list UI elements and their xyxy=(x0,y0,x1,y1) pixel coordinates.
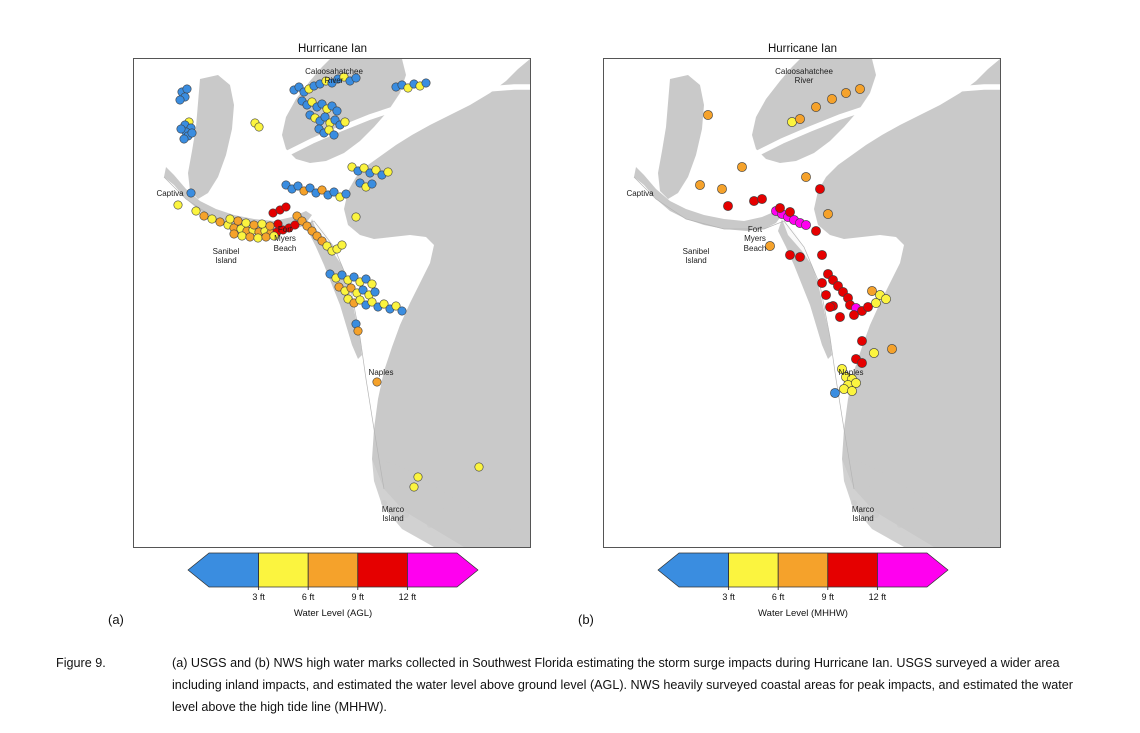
high-water-mark-point[interactable] xyxy=(801,172,810,181)
high-water-mark-point[interactable] xyxy=(757,194,766,203)
high-water-mark-point[interactable] xyxy=(841,88,850,97)
high-water-mark-point[interactable] xyxy=(869,348,878,357)
high-water-mark-point[interactable] xyxy=(183,85,191,93)
colorbar-segment xyxy=(308,553,358,587)
colorbar-segments xyxy=(658,553,948,590)
high-water-mark-point[interactable] xyxy=(352,74,360,82)
high-water-mark-point[interactable] xyxy=(801,220,810,229)
high-water-mark-point[interactable] xyxy=(238,232,246,240)
high-water-mark-point[interactable] xyxy=(177,125,185,133)
panel-b-colorbar: 3 ft6 ft9 ft12 ft Water Level (MHHW) xyxy=(657,550,949,622)
high-water-mark-point[interactable] xyxy=(384,168,392,176)
high-water-mark-point[interactable] xyxy=(830,388,839,397)
high-water-mark-point[interactable] xyxy=(775,203,784,212)
high-water-mark-point[interactable] xyxy=(815,184,824,193)
high-water-mark-point[interactable] xyxy=(857,358,866,367)
high-water-mark-point[interactable] xyxy=(795,252,804,261)
high-water-mark-point[interactable] xyxy=(266,222,274,230)
high-water-mark-point[interactable] xyxy=(192,207,200,215)
colorbar-tick-label: 6 ft xyxy=(772,592,785,602)
high-water-mark-point[interactable] xyxy=(823,209,832,218)
colorbar-segments xyxy=(188,553,478,590)
colorbar-tick-label: 3 ft xyxy=(722,592,735,602)
high-water-mark-point[interactable] xyxy=(354,327,362,335)
high-water-mark-point[interactable] xyxy=(827,94,836,103)
high-water-mark-point[interactable] xyxy=(262,233,270,241)
high-water-mark-point[interactable] xyxy=(338,241,346,249)
figure-caption: Figure 9. (a) USGS and (b) NWS high wate… xyxy=(56,652,1090,718)
panel-b-nws: Hurricane Ian NWS High Water Marks xyxy=(603,28,1002,628)
panel-a-title-line1: Hurricane Ian xyxy=(133,42,532,56)
high-water-mark-point[interactable] xyxy=(368,180,376,188)
high-water-mark-point[interactable] xyxy=(373,378,381,386)
high-water-mark-point[interactable] xyxy=(871,298,880,307)
colorbar-segment xyxy=(188,553,259,587)
panel-b-map[interactable]: Caloosahatchee River Captiva Sanibel Isl… xyxy=(603,58,1001,548)
panel-a-map[interactable]: Caloosahatchee River Captiva Sanibel Isl… xyxy=(133,58,531,548)
colorbar-tick-label: 9 ft xyxy=(822,592,835,602)
colorbar-segment xyxy=(407,553,478,587)
high-water-mark-point[interactable] xyxy=(817,250,826,259)
high-water-mark-point[interactable] xyxy=(749,196,758,205)
high-water-mark-point[interactable] xyxy=(180,135,188,143)
high-water-mark-point[interactable] xyxy=(849,310,858,319)
high-water-mark-point[interactable] xyxy=(342,190,350,198)
high-water-mark-point[interactable] xyxy=(811,226,820,235)
high-water-mark-point[interactable] xyxy=(230,230,238,238)
high-water-mark-point[interactable] xyxy=(475,463,483,471)
colorbar-tick-label: 3 ft xyxy=(252,592,265,602)
high-water-mark-point[interactable] xyxy=(226,215,234,223)
high-water-mark-point[interactable] xyxy=(398,307,406,315)
colorbar-segment xyxy=(358,553,408,587)
high-water-mark-point[interactable] xyxy=(410,483,418,491)
colorbar-segment xyxy=(778,553,828,587)
colorbar-segment xyxy=(658,553,729,587)
high-water-mark-point[interactable] xyxy=(847,386,856,395)
subfigure-label-a: (a) xyxy=(108,612,124,627)
high-water-mark-point[interactable] xyxy=(200,212,208,220)
high-water-mark-point[interactable] xyxy=(250,221,258,229)
panel-a-usgs: Hurricane Ian USGS High Water Marks xyxy=(133,28,532,628)
high-water-mark-point[interactable] xyxy=(825,302,834,311)
high-water-mark-point[interactable] xyxy=(188,129,196,137)
high-water-mark-point[interactable] xyxy=(887,344,896,353)
high-water-mark-point[interactable] xyxy=(216,218,224,226)
high-water-mark-point[interactable] xyxy=(254,234,262,242)
colorbar-agl-swatches xyxy=(187,550,479,590)
high-water-mark-point[interactable] xyxy=(857,336,866,345)
high-water-mark-point[interactable] xyxy=(839,384,848,393)
colorbar-tick-label: 6 ft xyxy=(302,592,315,602)
high-water-mark-point[interactable] xyxy=(817,278,826,287)
panel-b-map-canvas xyxy=(604,59,1000,547)
high-water-mark-point[interactable] xyxy=(737,162,746,171)
high-water-mark-point[interactable] xyxy=(341,118,349,126)
colorbar-tick-label: 12 ft xyxy=(869,592,887,602)
panel-a-map-canvas xyxy=(134,59,530,547)
high-water-mark-point[interactable] xyxy=(422,79,430,87)
high-water-mark-point[interactable] xyxy=(282,203,290,211)
high-water-mark-point[interactable] xyxy=(208,215,216,223)
high-water-mark-point[interactable] xyxy=(270,232,278,240)
high-water-mark-point[interactable] xyxy=(785,250,794,259)
high-water-mark-point[interactable] xyxy=(234,217,242,225)
high-water-mark-point[interactable] xyxy=(246,233,254,241)
high-water-mark-point[interactable] xyxy=(821,290,830,299)
figure-caption-body: (a) USGS and (b) NWS high water marks co… xyxy=(172,652,1090,718)
high-water-mark-point[interactable] xyxy=(352,213,360,221)
colorbar-tick-label: 9 ft xyxy=(352,592,365,602)
colorbar-agl-axis-label: Water Level (AGL) xyxy=(187,608,479,619)
high-water-mark-point[interactable] xyxy=(785,207,794,216)
colorbar-segment xyxy=(259,553,309,587)
high-water-mark-point[interactable] xyxy=(703,110,712,119)
high-water-mark-point[interactable] xyxy=(368,280,376,288)
high-water-mark-point[interactable] xyxy=(274,220,282,228)
high-water-mark-point[interactable] xyxy=(855,84,864,93)
colorbar-mhhw-axis-label: Water Level (MHHW) xyxy=(657,608,949,619)
high-water-mark-point[interactable] xyxy=(795,114,804,123)
colorbar-tick-label: 12 ft xyxy=(399,592,417,602)
colorbar-segment xyxy=(828,553,878,587)
panel-a-colorbar: 3 ft6 ft9 ft12 ft Water Level (AGL) xyxy=(187,550,479,622)
high-water-mark-point[interactable] xyxy=(835,312,844,321)
high-water-mark-point[interactable] xyxy=(695,180,704,189)
high-water-mark-point[interactable] xyxy=(765,241,774,250)
colorbar-segment xyxy=(877,553,948,587)
high-water-mark-point[interactable] xyxy=(414,473,422,481)
high-water-mark-point[interactable] xyxy=(811,102,820,111)
colorbar-mhhw-swatches xyxy=(657,550,949,590)
high-water-mark-point[interactable] xyxy=(330,131,338,139)
high-water-mark-point[interactable] xyxy=(176,96,184,104)
colorbar-segment xyxy=(729,553,779,587)
high-water-mark-point[interactable] xyxy=(258,220,266,228)
figure-caption-label: Figure 9. xyxy=(56,652,160,674)
high-water-mark-point[interactable] xyxy=(881,294,890,303)
high-water-mark-point[interactable] xyxy=(723,201,732,210)
high-water-mark-point[interactable] xyxy=(242,219,250,227)
panel-b-title-line1: Hurricane Ian xyxy=(603,42,1002,56)
subfigure-label-b: (b) xyxy=(578,612,594,627)
high-water-mark-point[interactable] xyxy=(333,107,341,115)
high-water-mark-point[interactable] xyxy=(187,189,195,197)
high-water-mark-point[interactable] xyxy=(255,123,263,131)
high-water-mark-point[interactable] xyxy=(174,201,182,209)
high-water-mark-point[interactable] xyxy=(371,288,379,296)
high-water-mark-point[interactable] xyxy=(717,184,726,193)
